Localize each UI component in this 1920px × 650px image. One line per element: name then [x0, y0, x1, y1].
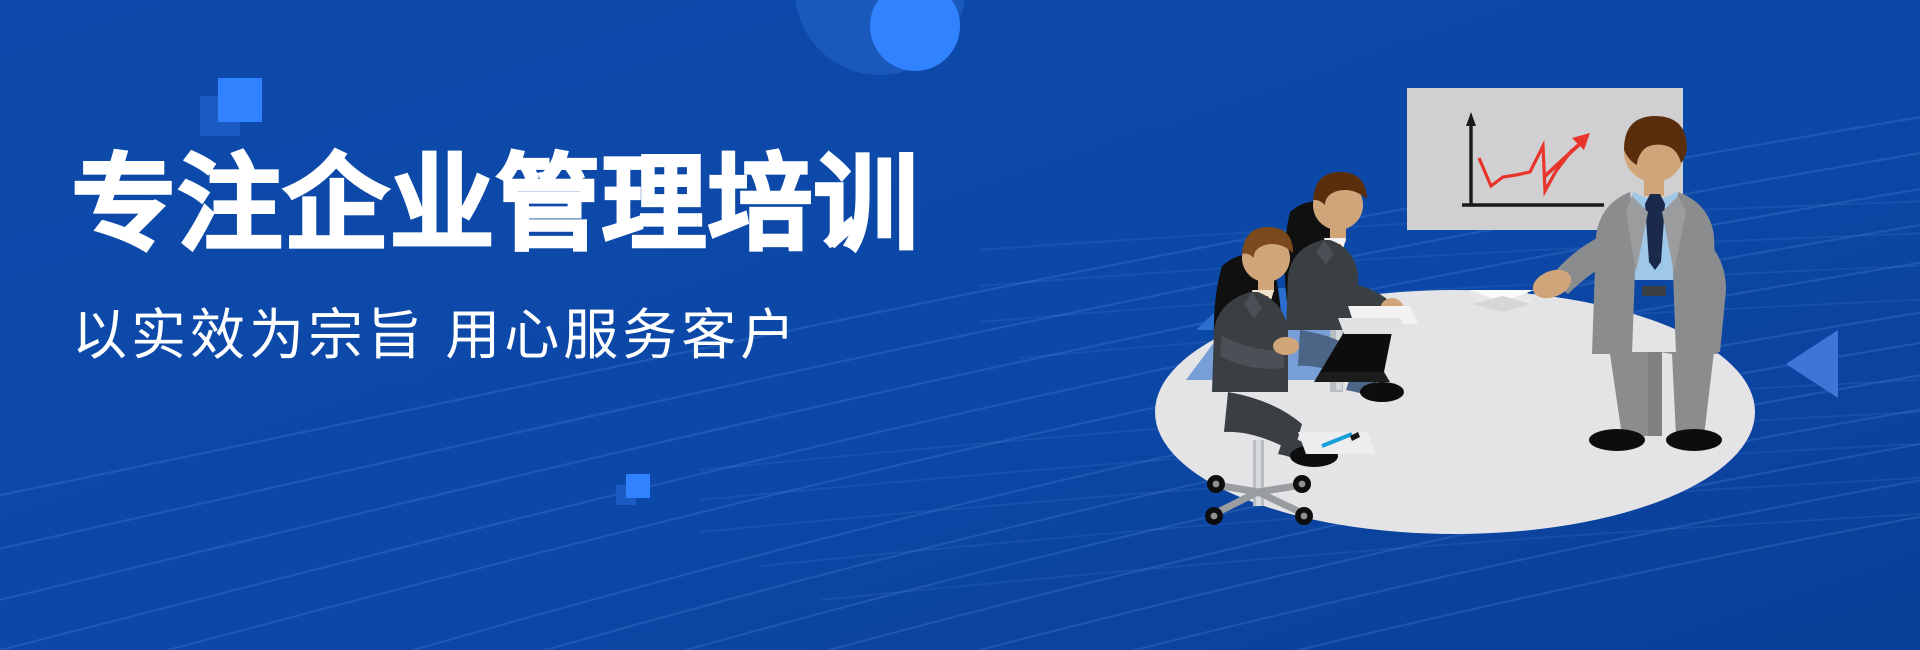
page-title: 专注企业管理培训	[72, 150, 1072, 259]
training-banner: 专注企业管理培训 以实效为宗旨 用心服务客户	[0, 0, 1920, 650]
page-subtitle: 以实效为宗旨 用心服务客户	[72, 305, 1072, 366]
text-block: 专注企业管理培训 以实效为宗旨 用心服务客户	[72, 150, 1072, 366]
notepad-and-pen	[1298, 432, 1376, 454]
